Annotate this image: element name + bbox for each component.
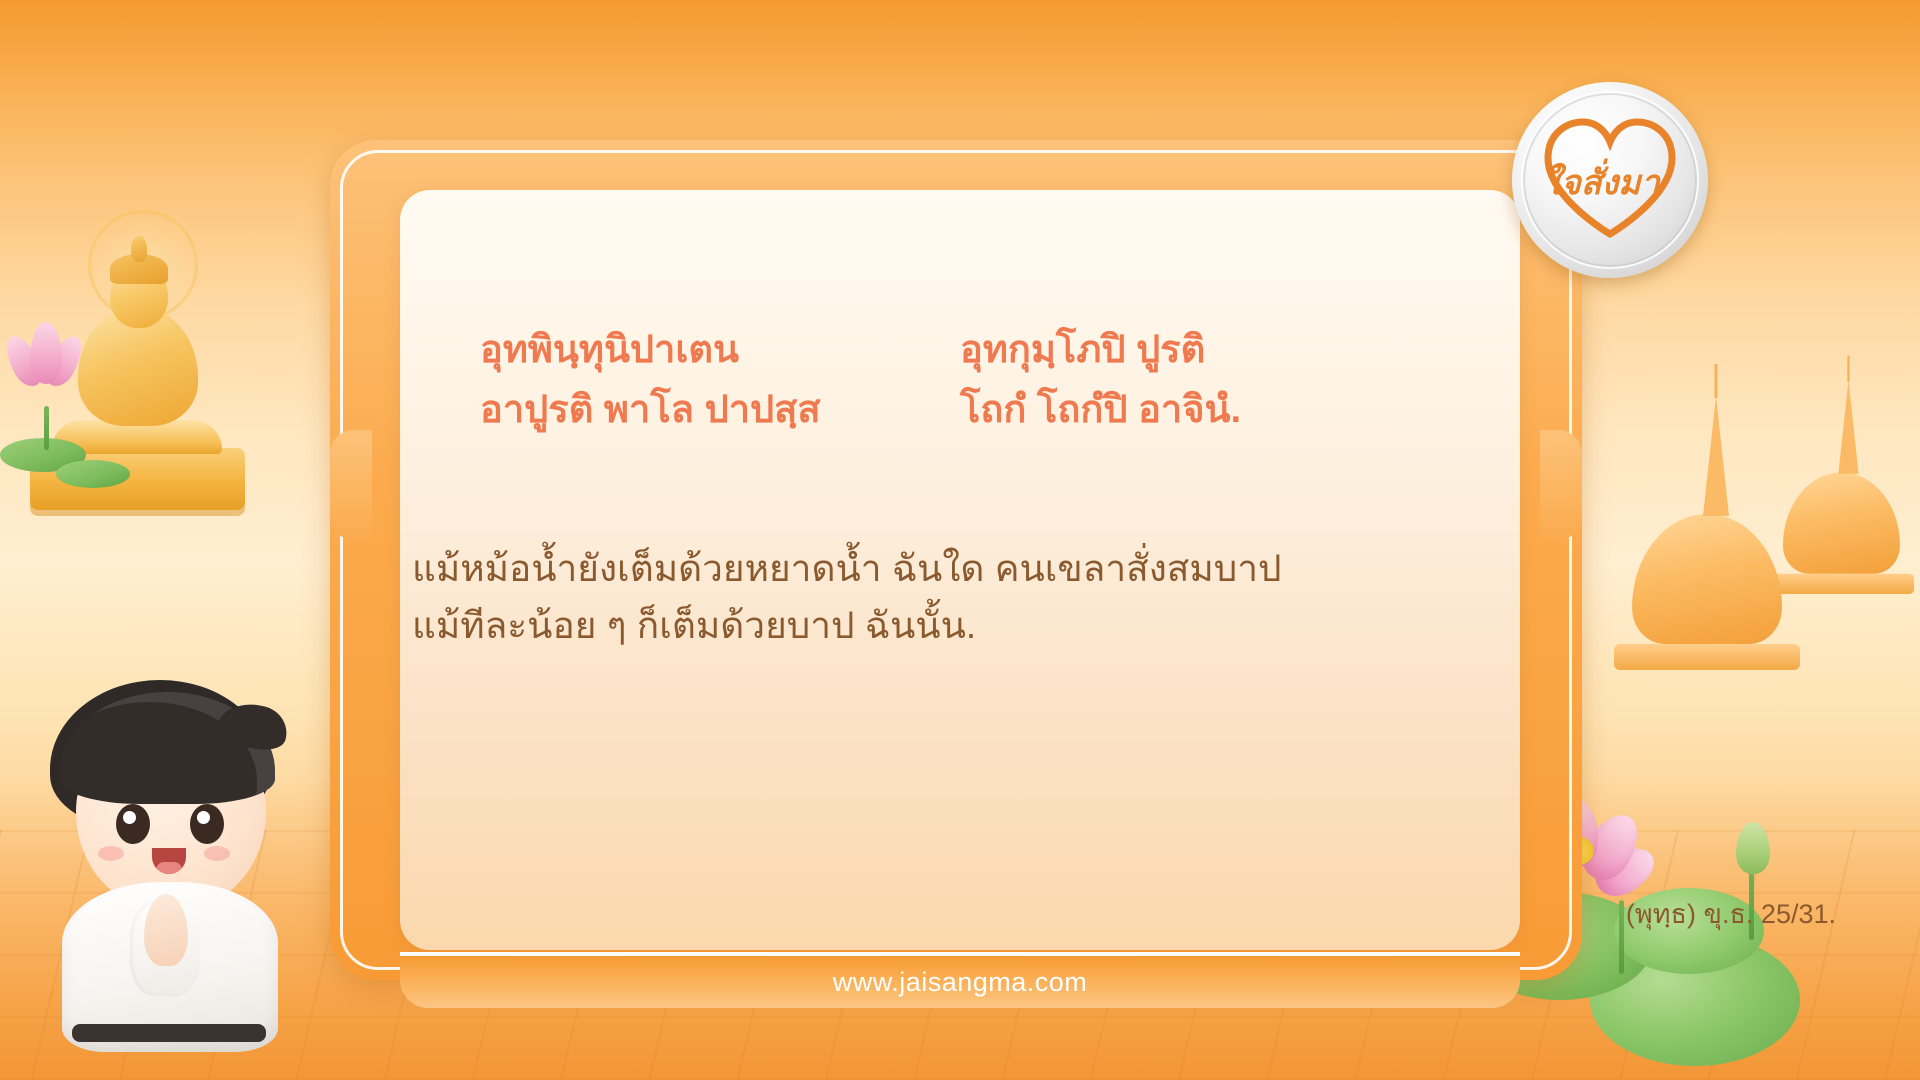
pali-column-right: อุทกุมฺโภปิ ปูรติ โถกํ โถกํปิ อาจินํ. — [960, 322, 1400, 438]
thai-translation: แม้หม้อน้ำยังเต็มด้วยหยาดน้ำ ฉันใด คนเขล… — [412, 540, 1512, 655]
brand-name: ใจสั่งมา — [1544, 155, 1659, 209]
website-ribbon: www.jaisangma.com — [400, 952, 1520, 1008]
lotus-bud-icon — [1736, 822, 1770, 874]
website-url[interactable]: www.jaisangma.com — [833, 967, 1088, 998]
pali-line: โถกํ โถกํปิ อาจินํ. — [960, 382, 1400, 438]
card-notch-right — [1540, 430, 1582, 540]
brand-logo-badge[interactable]: ใจสั่งมา — [1512, 82, 1708, 278]
card-notch-left — [330, 430, 372, 540]
translation-line: แม้หม้อน้ำยังเต็มด้วยหยาดน้ำ ฉันใด คนเขล… — [412, 540, 1512, 597]
pali-column-left: อุทพินฺทุนิปาเตน อาปูรติ พาโล ปาปสฺส — [470, 322, 900, 438]
poster-canvas: อุทพินฺทุนิปาเตน อาปูรติ พาโล ปาปสฺส อุท… — [0, 0, 1920, 1080]
translation-line: แม้ทีละน้อย ๆ ก็เต็มด้วยบาป ฉันนั้น. — [412, 597, 1512, 654]
pali-line: อุทกุมฺโภปิ ปูรติ — [960, 322, 1400, 378]
pali-line: อาปูรติ พาโล ปาปสฺส — [480, 382, 900, 438]
pali-verse: อุทพินฺทุนิปาเตน อาปูรติ พาโล ปาปสฺส อุท… — [470, 322, 1450, 438]
scripture-reference: (พุทฺธ) ขุ.ธ. 25/31. — [0, 892, 1836, 935]
pali-line: อุทพินฺทุนิปาเตน — [480, 322, 900, 378]
